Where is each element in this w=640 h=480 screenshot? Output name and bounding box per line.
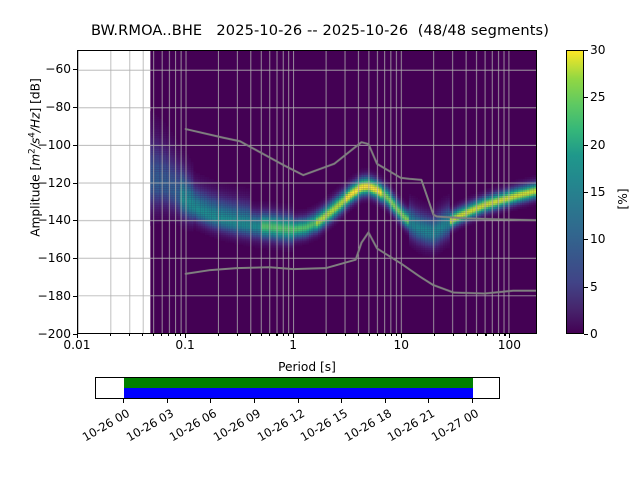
x-tick-mark-minor xyxy=(369,334,370,336)
colorbar-tick-mark xyxy=(584,192,588,193)
x-tick-mark-minor xyxy=(218,334,219,336)
x-tick-mark xyxy=(293,334,294,338)
x-tick-mark-minor xyxy=(250,334,251,336)
time-tick-mark xyxy=(428,399,429,403)
x-tick-mark-minor xyxy=(276,334,277,336)
x-tick-mark xyxy=(509,334,510,338)
y-tick-label: −80 xyxy=(11,100,71,114)
colorbar-tick-mark xyxy=(584,334,588,335)
time-tick-mark xyxy=(341,399,342,403)
colorbar-tick-label: 0 xyxy=(590,327,598,341)
colorbar-tick-mark xyxy=(584,50,588,51)
x-tick-mark-minor xyxy=(269,334,270,336)
colorbar-tick-label: 20 xyxy=(590,138,606,152)
x-tick-mark-minor xyxy=(477,334,478,336)
x-tick-mark-minor xyxy=(391,334,392,336)
y-tick-label: −180 xyxy=(11,289,71,303)
y-tick-mark xyxy=(73,296,77,297)
x-tick-mark-minor xyxy=(493,334,494,336)
x-tick-mark-minor xyxy=(434,334,435,336)
x-tick-label: 100 xyxy=(474,338,544,352)
x-tick-mark-minor xyxy=(161,334,162,336)
x-tick-mark-minor xyxy=(358,334,359,336)
x-tick-mark-minor xyxy=(453,334,454,336)
colorbar xyxy=(566,50,584,334)
x-tick-mark-minor xyxy=(345,334,346,336)
y-tick-label: −100 xyxy=(11,138,71,152)
x-tick-mark-minor xyxy=(261,334,262,336)
y-tick-mark xyxy=(73,145,77,146)
time-tick-mark xyxy=(167,399,168,403)
y-tick-mark xyxy=(73,107,77,108)
colorbar-tick-mark xyxy=(584,97,588,98)
time-coverage-upper-band xyxy=(124,378,473,388)
ppsd-figure: BW.RMOA..BHE 2025-10-26 -- 2025-10-26 (4… xyxy=(0,0,640,480)
time-tick-mark xyxy=(254,399,255,403)
colorbar-tick-mark xyxy=(584,145,588,146)
x-tick-mark-minor xyxy=(396,334,397,336)
y-tick-label: −160 xyxy=(11,251,71,265)
x-tick-mark-minor xyxy=(288,334,289,336)
x-tick-mark xyxy=(185,334,186,338)
x-tick-label: 0.01 xyxy=(42,338,112,352)
y-tick-label: −120 xyxy=(11,176,71,190)
x-tick-mark-minor xyxy=(142,334,143,336)
x-tick-mark-minor xyxy=(377,334,378,336)
x-tick-mark-minor xyxy=(153,334,154,336)
x-tick-label: 1 xyxy=(258,338,328,352)
x-tick-label: 0.1 xyxy=(150,338,220,352)
y-tick-mark xyxy=(73,258,77,259)
time-tick-mark xyxy=(472,399,473,403)
x-tick-mark-minor xyxy=(129,334,130,336)
time-coverage-lower-band xyxy=(124,388,473,398)
time-tick-mark xyxy=(385,399,386,403)
x-tick-mark-minor xyxy=(504,334,505,336)
colorbar-tick-label: 30 xyxy=(590,43,606,57)
x-tick-mark-minor xyxy=(326,334,327,336)
y-tick-mark xyxy=(73,220,77,221)
x-tick-mark-minor xyxy=(180,334,181,336)
time-coverage-bar[interactable] xyxy=(95,377,500,399)
x-tick-mark-minor xyxy=(237,334,238,336)
x-tick-mark-minor xyxy=(168,334,169,336)
colorbar-label: [%] xyxy=(616,149,630,249)
x-tick-mark xyxy=(77,334,78,338)
x-tick-mark-minor xyxy=(110,334,111,336)
x-tick-mark-minor xyxy=(385,334,386,336)
ppsd-density-canvas xyxy=(78,51,536,333)
y-tick-label: −140 xyxy=(11,213,71,227)
y-tick-mark xyxy=(73,183,77,184)
x-tick-mark-minor xyxy=(175,334,176,336)
x-tick-mark xyxy=(401,334,402,338)
x-tick-mark-minor xyxy=(499,334,500,336)
colorbar-tick-label: 10 xyxy=(590,232,606,246)
time-tick-mark xyxy=(210,399,211,403)
x-axis-label: Period [s] xyxy=(77,360,537,374)
colorbar-tick-mark xyxy=(584,287,588,288)
figure-title: BW.RMOA..BHE 2025-10-26 -- 2025-10-26 (4… xyxy=(0,22,640,39)
y-tick-label: −60 xyxy=(11,62,71,76)
colorbar-tick-label: 5 xyxy=(590,280,598,294)
colorbar-tick-label: 15 xyxy=(590,185,606,199)
x-tick-mark-minor xyxy=(466,334,467,336)
colorbar-tick-label: 25 xyxy=(590,90,606,104)
ppsd-plot-area[interactable] xyxy=(77,50,537,334)
x-tick-label: 10 xyxy=(366,338,436,352)
x-tick-mark-minor xyxy=(283,334,284,336)
time-tick-mark xyxy=(123,399,124,403)
colorbar-tick-mark xyxy=(584,239,588,240)
y-tick-mark xyxy=(73,69,77,70)
x-tick-mark-minor xyxy=(485,334,486,336)
time-tick-mark xyxy=(298,399,299,403)
